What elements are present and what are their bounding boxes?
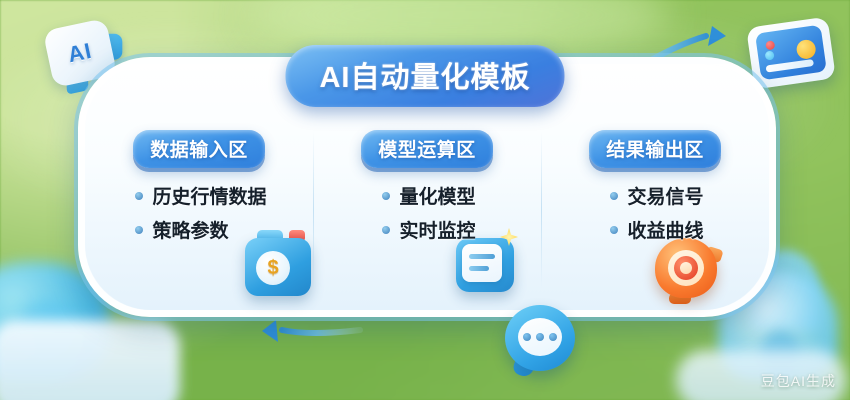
bullet-list-data-input: 历史行情数据 策略参数 (131, 182, 266, 243)
watermark: 豆包AI生成 (761, 371, 836, 391)
list-item: 历史行情数据 (135, 182, 266, 209)
chat-bubble-icon (505, 305, 575, 371)
list-item: 实时监控 (382, 216, 475, 243)
page-title-label: AI自动量化模板 (319, 54, 530, 96)
list-item: 量化模型 (382, 182, 475, 209)
columns-container: 数据输入区 历史行情数据 策略参数 (85, 126, 769, 310)
bullet-label: 历史行情数据 (152, 182, 266, 209)
bullet-dot-icon (382, 226, 390, 234)
bullet-list-result-output: 交易信号 收益曲线 (606, 182, 703, 243)
column-header-label: 数据输入区 (150, 140, 248, 161)
bullet-dot-icon (610, 192, 618, 200)
page-title: AI自动量化模板 (285, 45, 564, 107)
list-item: 策略参数 (135, 216, 266, 243)
list-item: 交易信号 (610, 182, 703, 209)
chat-dot-2 (536, 333, 544, 341)
chat-bubble-dots (518, 318, 562, 356)
column-model-compute: 模型运算区 量化模型 实时监控 (313, 126, 541, 310)
list-item: 收益曲线 (610, 216, 703, 243)
flow-arrow-left-path (282, 330, 360, 333)
bullet-dot-icon (610, 226, 618, 234)
dashboard-card-icon (746, 17, 836, 90)
column-result-output: 结果输出区 交易信号 收益曲线 (541, 126, 769, 310)
bullet-label: 收益曲线 (627, 216, 703, 243)
flow-arrow-left-head (262, 320, 278, 342)
bullet-dot-icon (135, 226, 143, 234)
chat-dot-1 (523, 333, 531, 341)
chat-dot-3 (549, 333, 557, 341)
bullet-dot-icon (382, 192, 390, 200)
bullet-label: 交易信号 (627, 182, 703, 209)
column-data-input: 数据输入区 历史行情数据 策略参数 (85, 126, 313, 310)
flow-arrow-right-head (708, 26, 726, 46)
column-header-data-input: 数据输入区 (133, 130, 265, 168)
column-header-label: 模型运算区 (378, 140, 476, 161)
column-header-model-compute: 模型运算区 (361, 130, 493, 168)
column-header-result-output: 结果输出区 (589, 130, 721, 168)
column-header-label: 结果输出区 (606, 140, 704, 161)
bullet-label: 策略参数 (152, 216, 228, 243)
bullet-dot-icon (135, 192, 143, 200)
bullet-list-model-compute: 量化模型 实时监控 (378, 182, 475, 243)
bullet-label: 实时监控 (399, 216, 475, 243)
bullet-label: 量化模型 (399, 182, 475, 209)
infographic-canvas: AI 数据输入区 历史行情数据 (0, 0, 850, 400)
